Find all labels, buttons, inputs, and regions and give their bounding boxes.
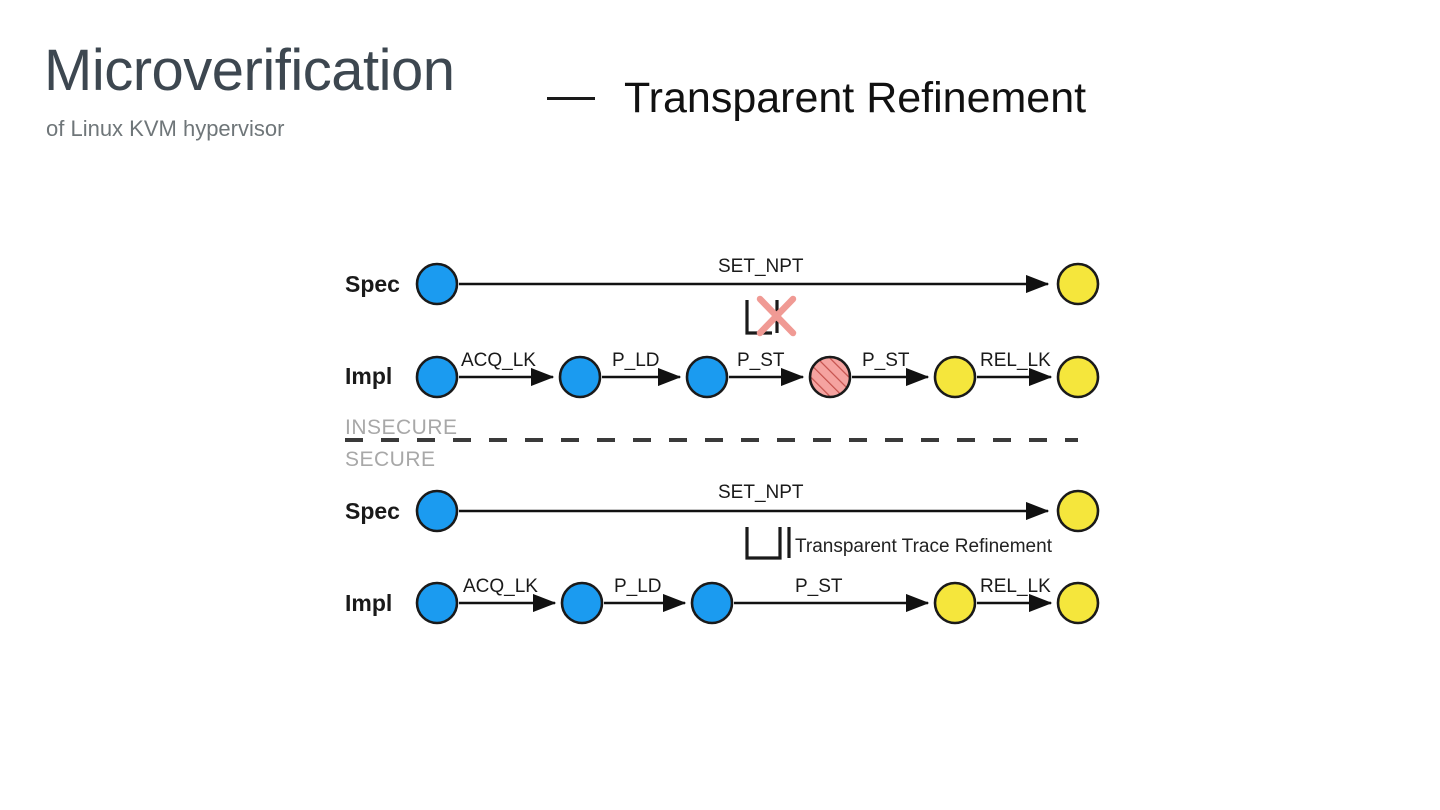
boundary-label-insecure: INSECURE [345, 416, 458, 439]
insecure-impl-edge-label-1: P_LD [612, 350, 660, 371]
insecure-impl-edge-label-0: ACQ_LK [461, 350, 536, 371]
secure-impl-node-2 [692, 583, 732, 623]
insecure-spec-node-1 [1058, 264, 1098, 304]
secure-spec-edge-label-0: SET_NPT [718, 482, 804, 503]
secure-impl-edge-label-0: ACQ_LK [463, 576, 538, 597]
transparent-trace-refinement-label: Transparent Trace Refinement [795, 536, 1053, 557]
secure-half: Spec SET_NPT Transparent Trace Refinemen… [345, 482, 1098, 623]
secure-impl-row-label: Impl [345, 590, 392, 616]
secure-impl-node-1 [562, 583, 602, 623]
secure-spec-node-0 [417, 491, 457, 531]
insecure-impl-node-2 [687, 357, 727, 397]
secure-spec-row: Spec SET_NPT [345, 482, 1098, 531]
insecure-impl-node-5 [1058, 357, 1098, 397]
insecure-spec-edge-label-0: SET_NPT [718, 256, 804, 277]
insecure-impl-node-4 [935, 357, 975, 397]
insecure-half: Spec SET_NPT Impl [345, 256, 1098, 397]
insecure-impl-edge-label-3: P_ST [862, 350, 910, 371]
insecure-impl-edge-label-4: REL_LK [980, 350, 1051, 371]
refinement-bracket-u-icon [747, 527, 780, 558]
insecure-impl-edge-label-2: P_ST [737, 350, 785, 371]
refinement-diagram: Spec SET_NPT Impl [0, 0, 1440, 810]
insecure-impl-row-label: Impl [345, 363, 392, 389]
boundary-label-secure: SECURE [345, 448, 436, 471]
insecure-impl-node-0 [417, 357, 457, 397]
insecure-impl-node-1 [560, 357, 600, 397]
insecure-impl-row: Impl ACQ_LK P_LD P_ST P_ST REL_LK [345, 350, 1098, 397]
insecure-spec-row: Spec SET_NPT [345, 256, 1098, 304]
insecure-spec-node-0 [417, 264, 457, 304]
insecure-refinement-annotation [747, 299, 793, 333]
secure-spec-row-label: Spec [345, 498, 400, 524]
insecure-spec-row-label: Spec [345, 271, 400, 297]
secure-impl-edge-label-1: P_LD [614, 576, 662, 597]
secure-impl-node-3 [935, 583, 975, 623]
security-boundary: INSECURE SECURE [345, 416, 1078, 471]
secure-spec-node-1 [1058, 491, 1098, 531]
secure-impl-row: Impl ACQ_LK P_LD P_ST REL_LK [345, 576, 1098, 623]
secure-impl-edge-label-3: REL_LK [980, 576, 1051, 597]
secure-impl-node-4 [1058, 583, 1098, 623]
secure-refinement-annotation: Transparent Trace Refinement [747, 527, 1053, 558]
secure-impl-edge-label-2: P_ST [795, 576, 843, 597]
secure-impl-node-0 [417, 583, 457, 623]
insecure-impl-node-3-violating [810, 357, 850, 397]
